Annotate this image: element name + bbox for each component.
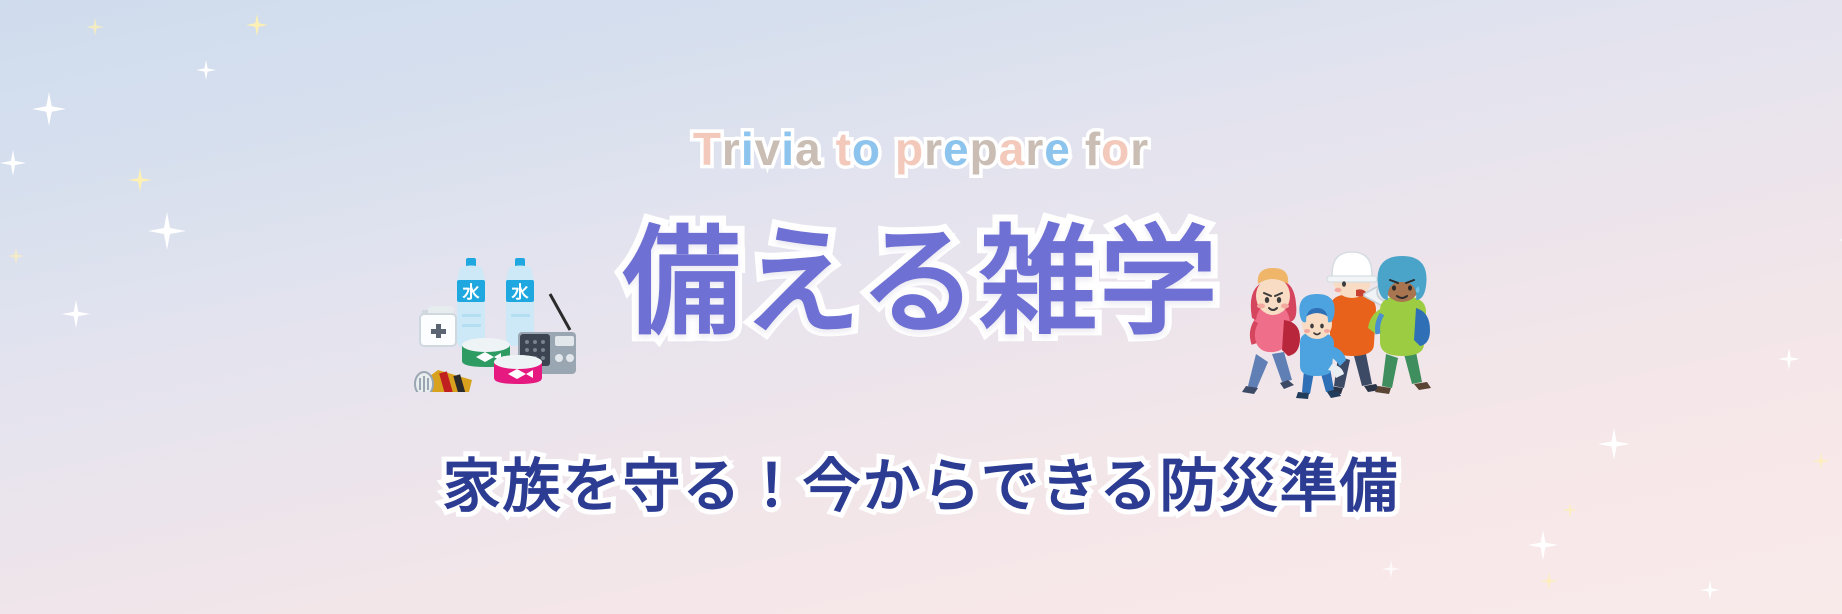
english-title-letter-3: v xyxy=(755,126,782,172)
sparkle-star-5 xyxy=(196,60,216,80)
sparkle-star-7 xyxy=(86,18,104,36)
banner-root: Triviatopreparefor 水 xyxy=(0,0,1842,614)
english-title-letter-2: i xyxy=(741,126,755,172)
sparkle-glyph xyxy=(1382,560,1400,578)
subtitle: 家族を守る！今からできる防災準備 xyxy=(0,455,1842,519)
flashlight-icon xyxy=(415,370,472,392)
sparkle-glyph xyxy=(1528,530,1558,560)
main-title: 備える雑学 xyxy=(0,222,1842,346)
sparkle-star-13 xyxy=(1778,348,1800,370)
english-title-letter-20: r xyxy=(1130,126,1149,172)
sparkle-glyph xyxy=(1540,572,1558,590)
english-title-letter-13: p xyxy=(970,126,999,172)
sparkle-glyph xyxy=(246,14,268,36)
english-title-letter-4: i xyxy=(781,126,795,172)
canned-fish-icon-pink xyxy=(494,355,542,384)
english-title-letter-5: a xyxy=(795,126,822,172)
english-title-letter-0: T xyxy=(693,126,722,172)
english-title: Triviatopreparefor xyxy=(0,126,1842,172)
english-title-letter-1: r xyxy=(722,126,741,172)
english-title-letter-8: o xyxy=(852,126,881,172)
sparkle-star-11 xyxy=(1528,530,1558,560)
english-title-letter-18: f xyxy=(1085,126,1101,172)
english-title-letter-16: e xyxy=(1044,126,1071,172)
sparkle-star-0 xyxy=(32,92,66,126)
english-title-letter-12: e xyxy=(943,126,970,172)
sparkle-glyph xyxy=(1778,348,1800,370)
english-title-letter-15: r xyxy=(1025,126,1044,172)
english-title-letter-19: o xyxy=(1101,126,1130,172)
sparkle-star-15 xyxy=(1700,580,1720,600)
sparkle-star-16 xyxy=(1382,560,1400,578)
english-title-letter-10: p xyxy=(895,126,924,172)
english-title-letter-7: t xyxy=(836,126,852,172)
sparkle-star-6 xyxy=(246,14,268,36)
sparkle-star-12 xyxy=(1540,572,1558,590)
sparkle-glyph xyxy=(1700,580,1720,600)
sparkle-glyph xyxy=(86,18,104,36)
english-title-letter-11: r xyxy=(924,126,943,172)
sparkle-glyph xyxy=(32,92,66,126)
english-title-letter-14: a xyxy=(999,126,1026,172)
sparkle-glyph xyxy=(196,60,216,80)
